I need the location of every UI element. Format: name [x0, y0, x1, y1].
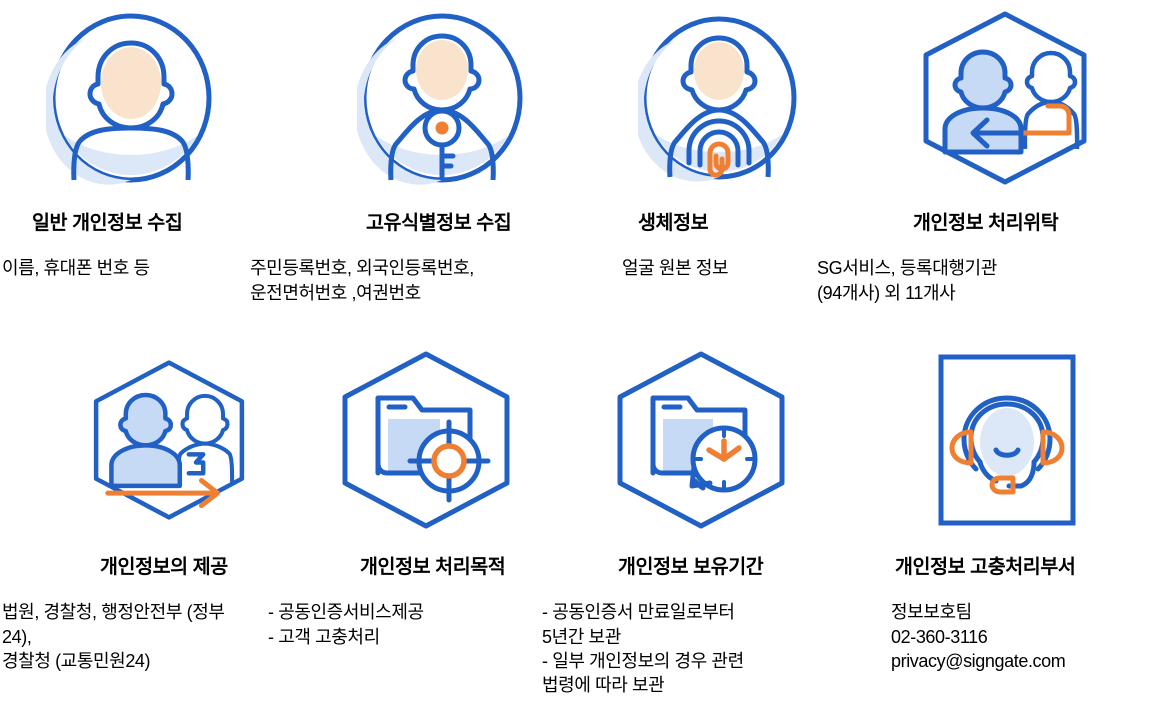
card-body: - 공동인증서비스제공 - 고객 고충처리 [250, 600, 530, 649]
card-title: 개인정보의 제공 [0, 556, 250, 579]
card-title: 개인정보 처리위탁 [805, 212, 1159, 235]
card-body: 주민등록번호, 외국인등록번호, 운전면허번호 ,여권번호 [250, 256, 530, 305]
headset-support-square-icon [805, 340, 1159, 540]
two-people-left-arrow-hexagon-icon [805, 0, 1159, 196]
person-in-circle-icon [0, 0, 250, 196]
card-unique-identifier-collection: 고유식별정보 수집 주민등록번호, 외국인등록번호, 운전면허번호 ,여권번호 [250, 0, 530, 340]
person-with-key-in-circle-icon [250, 0, 530, 196]
card-title: 일반 개인정보 수집 [0, 212, 250, 235]
card-body: 정보보호팀 02-360-3116 privacy@signgate.com [805, 600, 1159, 673]
card-title: 개인정보 처리목적 [250, 556, 530, 579]
card-body: 얼굴 원본 정보 [530, 256, 805, 280]
card-body: 이름, 휴대폰 번호 등 [0, 256, 250, 280]
card-body: - 공동인증서 만료일로부터 5년간 보관 - 일부 개인정보의 경우 관련 법… [530, 600, 805, 697]
card-general-personal-info-collection: 일반 개인정보 수집 이름, 휴대폰 번호 등 [0, 0, 250, 340]
infographic-grid: 일반 개인정보 수집 이름, 휴대폰 번호 등 고유식별정보 수집 주민등록번호… [0, 0, 1159, 715]
two-people-right-arrow-hexagon-icon [0, 340, 250, 540]
person-with-fingerprint-in-circle-icon [530, 0, 805, 196]
card-grievance-department: 개인정보 고충처리부서 정보보호팀 02-360-3116 privacy@si… [805, 340, 1159, 715]
card-body: 법원, 경찰청, 행정안전부 (정부24), 경찰청 (교통민원24) [0, 600, 250, 673]
card-title: 고유식별정보 수집 [250, 212, 530, 235]
card-personal-info-processing-consignment: 개인정보 처리위탁 SG서비스, 등록대행기관 (94개사) 외 11개사 [805, 0, 1159, 340]
card-title: 개인정보 고충처리부서 [805, 556, 1159, 579]
card-retention-period: 개인정보 보유기간 - 공동인증서 만료일로부터 5년간 보관 - 일부 개인정… [530, 340, 805, 715]
card-title: 개인정보 보유기간 [530, 556, 805, 579]
card-title: 생체정보 [530, 212, 805, 235]
card-biometric-info: 생체정보 얼굴 원본 정보 [530, 0, 805, 340]
card-body: SG서비스, 등록대행기관 (94개사) 외 11개사 [805, 256, 1159, 305]
card-purpose-of-processing: 개인정보 처리목적 - 공동인증서비스제공 - 고객 고충처리 [250, 340, 530, 715]
folder-target-hexagon-icon [250, 340, 530, 540]
folder-clock-hexagon-icon [530, 340, 805, 540]
card-provision-of-personal-info: 개인정보의 제공 법원, 경찰청, 행정안전부 (정부24), 경찰청 (교통민… [0, 340, 250, 715]
